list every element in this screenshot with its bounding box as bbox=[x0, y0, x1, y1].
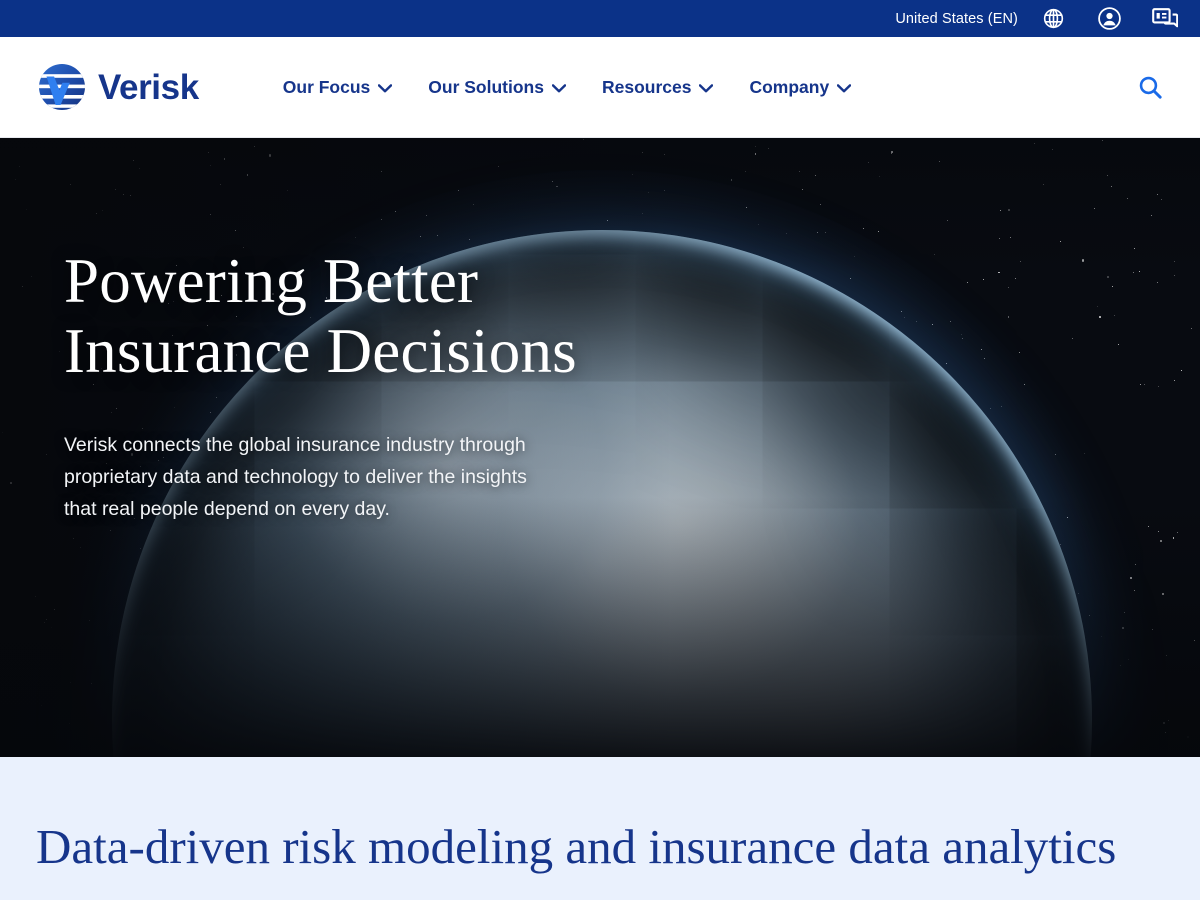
page-root: United States (EN) bbox=[0, 0, 1200, 900]
account-icon[interactable] bbox=[1096, 6, 1122, 32]
search-icon bbox=[1137, 74, 1164, 101]
nav-label: Our Solutions bbox=[428, 77, 544, 98]
chevron-down-icon bbox=[837, 84, 851, 93]
primary-navigation: Our Focus Our Solutions Resources Compan… bbox=[265, 77, 869, 98]
hero-title: Powering Better Insurance Decisions bbox=[64, 246, 604, 386]
nav-label: Our Focus bbox=[283, 77, 371, 98]
chevron-down-icon bbox=[699, 84, 713, 93]
nav-item-our-focus[interactable]: Our Focus bbox=[265, 77, 411, 98]
chevron-down-icon bbox=[552, 84, 566, 93]
section-heading: Data-driven risk modeling and insurance … bbox=[36, 819, 1176, 875]
chevron-down-icon bbox=[378, 84, 392, 93]
chat-icon[interactable] bbox=[1152, 6, 1178, 32]
hero-section: Powering Better Insurance Decisions Veri… bbox=[0, 138, 1200, 757]
nav-item-company[interactable]: Company bbox=[731, 77, 869, 98]
nav-item-our-solutions[interactable]: Our Solutions bbox=[410, 77, 584, 98]
nav-item-resources[interactable]: Resources bbox=[584, 77, 732, 98]
verisk-logo-mark bbox=[36, 61, 88, 113]
hero-subtitle: Verisk connects the global insurance ind… bbox=[64, 429, 564, 525]
globe-icon[interactable] bbox=[1040, 6, 1066, 32]
locale-selector[interactable]: United States (EN) bbox=[895, 11, 1018, 27]
nav-label: Resources bbox=[602, 77, 692, 98]
search-button[interactable] bbox=[1130, 67, 1170, 107]
main-header: Verisk Our Focus Our Solutions Resources bbox=[0, 37, 1200, 138]
hero-content: Powering Better Insurance Decisions Veri… bbox=[64, 246, 604, 525]
verisk-logo[interactable]: Verisk bbox=[36, 61, 199, 113]
verisk-wordmark: Verisk bbox=[98, 70, 199, 105]
utility-bar: United States (EN) bbox=[0, 0, 1200, 37]
intro-section: Data-driven risk modeling and insurance … bbox=[0, 757, 1200, 900]
nav-label: Company bbox=[749, 77, 829, 98]
